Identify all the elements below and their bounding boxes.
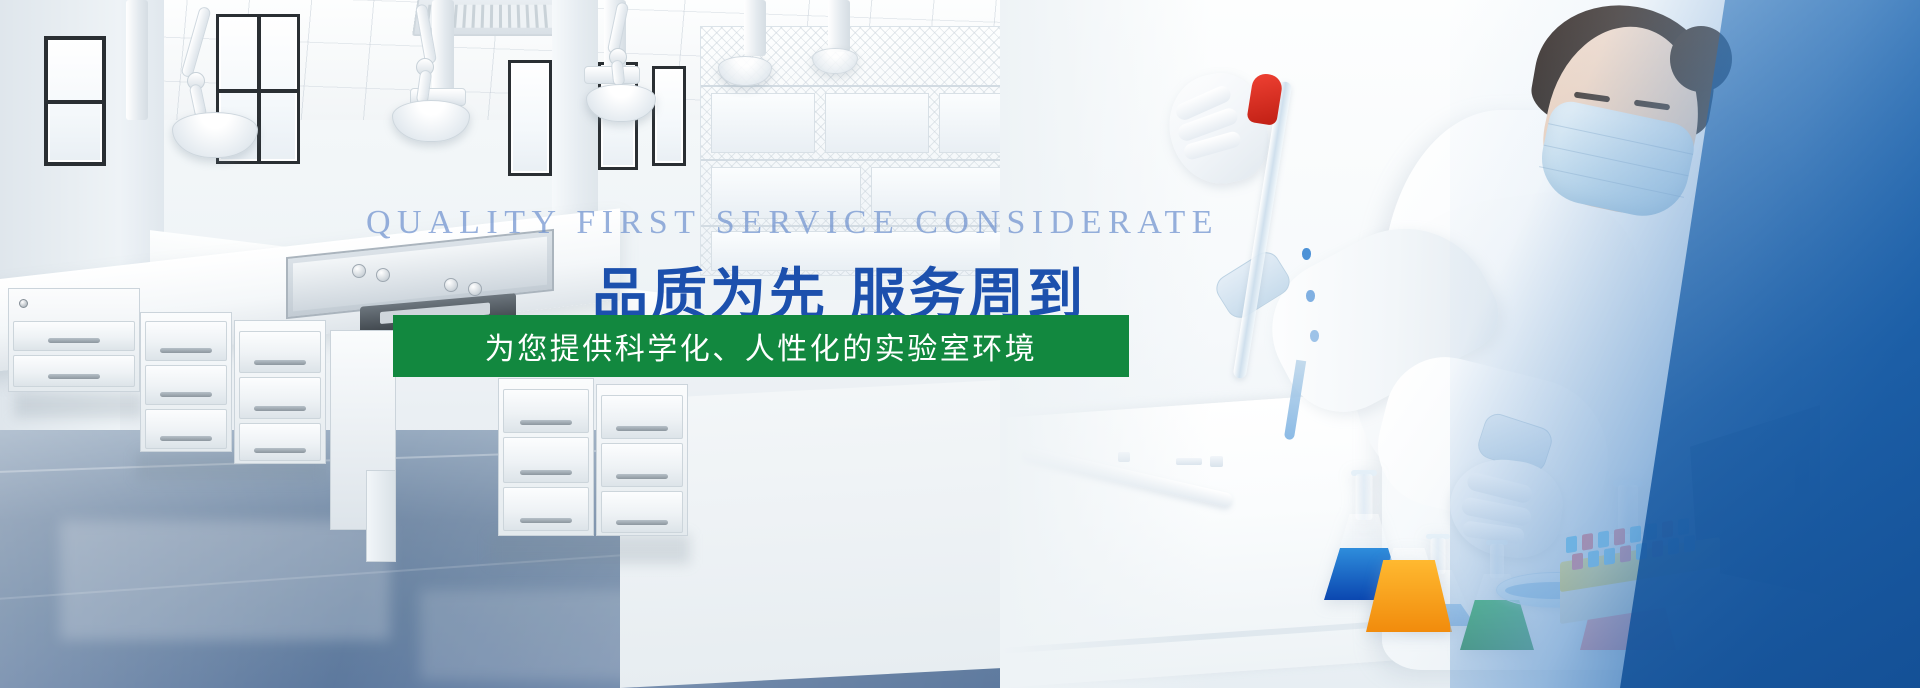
window [508, 60, 552, 176]
liquid-droplet [1302, 248, 1311, 260]
subtitle-text: 为您提供科学化、人性化的实验室环境 [485, 324, 1038, 368]
base-cabinet [234, 320, 326, 464]
window [652, 66, 686, 166]
hero-banner: QUALITY FIRST SERVICE CONSIDERATE 品质为先服务… [0, 0, 1920, 688]
cabinet-drawer[interactable] [503, 389, 589, 433]
flask-liquid-orange [1366, 560, 1452, 632]
cabinet-drawer[interactable] [601, 443, 683, 487]
scientist-photo [1000, 0, 1920, 688]
english-tagline: QUALITY FIRST SERVICE CONSIDERATE [366, 204, 1219, 242]
cabinet-drawer[interactable] [239, 331, 321, 373]
cabinet-drawer[interactable] [145, 365, 227, 405]
window-mullion [48, 100, 102, 104]
cabinet-drawer[interactable] [13, 321, 135, 351]
ceiling-boom [828, 0, 850, 52]
bench-leg [366, 470, 396, 562]
base-cabinet [596, 384, 688, 536]
flask-neck [1356, 474, 1373, 520]
shelf-panel [711, 93, 815, 153]
cabinet-drawer[interactable] [145, 321, 227, 361]
floor-highlight [60, 520, 390, 640]
cabinet-shadow [490, 534, 690, 564]
cabinet-drawer[interactable] [13, 355, 135, 387]
cabinet-drawer[interactable] [503, 487, 589, 531]
cabinet-shadow [14, 392, 144, 418]
cabinet-drawer[interactable] [239, 423, 321, 461]
subtitle-bar: 为您提供科学化、人性化的实验室环境 [393, 315, 1129, 377]
base-cabinet [140, 312, 232, 452]
cabinet-lock-icon [19, 299, 28, 308]
gas-tap-icon [468, 282, 482, 296]
cabinet-drawer[interactable] [601, 491, 683, 533]
window [44, 36, 106, 166]
cabinet-drawer[interactable] [601, 395, 683, 439]
shelf-panel [825, 93, 929, 153]
gas-tap-icon [444, 278, 458, 292]
flask-orange [1366, 548, 1452, 632]
ceiling-boom [432, 0, 454, 96]
window-mullion [257, 17, 261, 161]
liquid-droplet [1306, 290, 1315, 302]
cabinet-drawer[interactable] [503, 437, 589, 483]
base-cabinet [498, 378, 594, 536]
ceiling-boom [744, 0, 766, 56]
ceiling-boom [126, 0, 148, 120]
cabinet-drawer[interactable] [145, 409, 227, 449]
small-vial [1210, 456, 1223, 467]
liquid-droplet [1310, 330, 1319, 342]
cabinet-drawer[interactable] [239, 377, 321, 419]
gas-tap-icon [352, 264, 366, 278]
base-cabinet [8, 288, 140, 392]
gas-tap-icon [376, 268, 390, 282]
